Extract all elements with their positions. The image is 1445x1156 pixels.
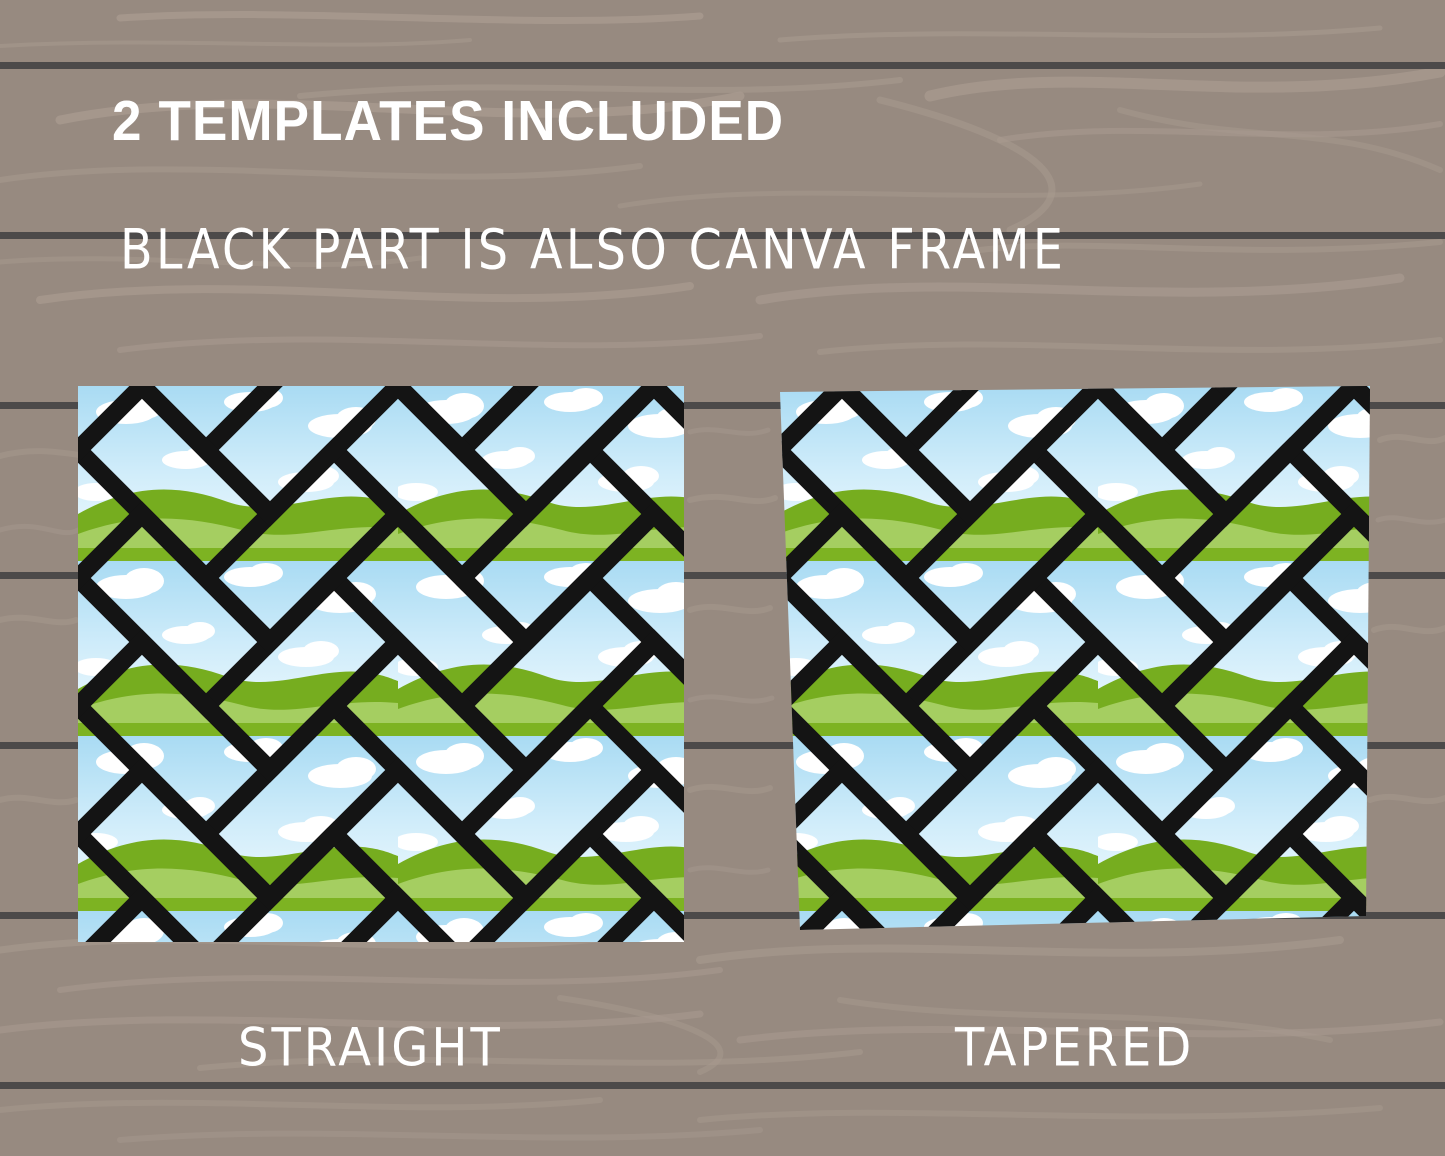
caption-tapered: TAPERED <box>955 1017 1194 1079</box>
plank-divider <box>0 62 1445 69</box>
plank-divider <box>0 1082 1445 1089</box>
tumbler-straight-template[interactable] <box>78 386 684 942</box>
page-subtitle: BLACK PART IS ALSO CANVA FRAME <box>120 218 1066 282</box>
caption-straight: STRAIGHT <box>238 1017 503 1079</box>
tumbler-tapered-template[interactable] <box>778 386 1370 930</box>
page-title: 2 TEMPLATES INCLUDED <box>112 88 784 154</box>
poster-canvas: 2 TEMPLATES INCLUDED BLACK PART IS ALSO … <box>0 0 1445 1156</box>
